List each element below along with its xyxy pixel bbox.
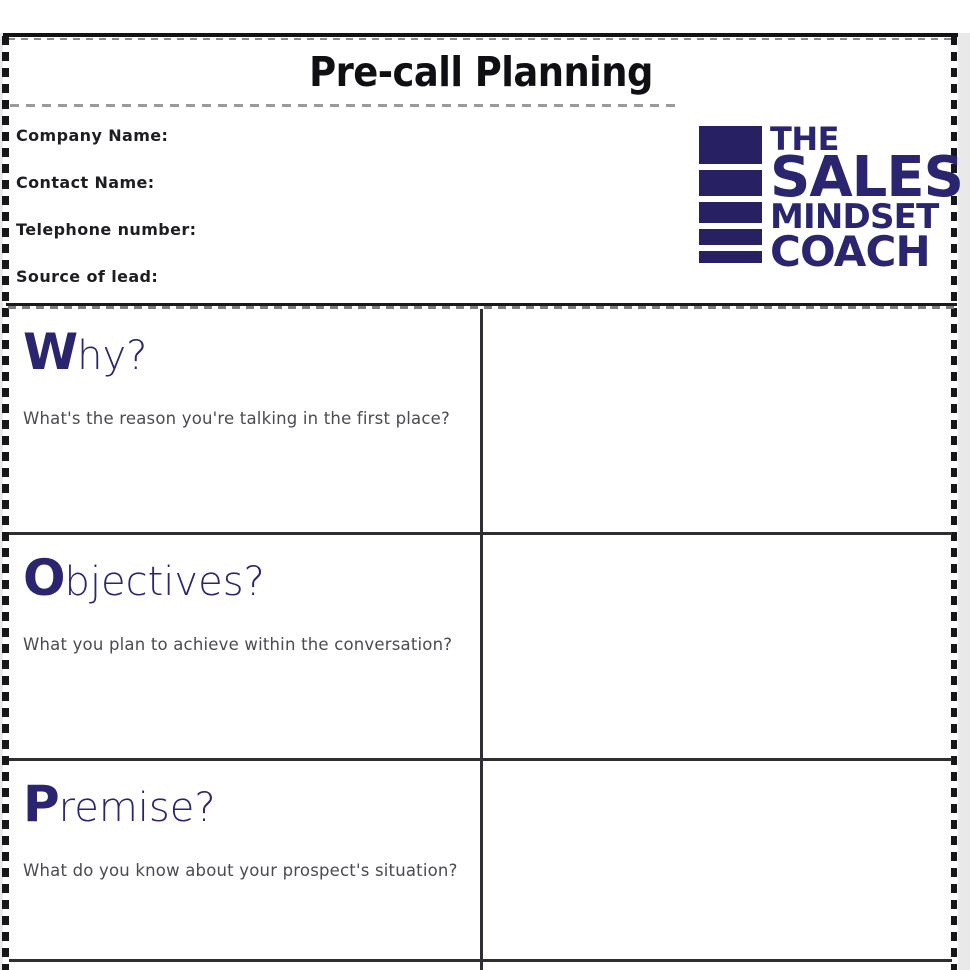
title-band: Pre-call Planning [10,40,951,104]
page-title: Pre-call Planning [309,52,653,93]
section-heading-premise: Premise? [23,779,466,829]
section-heading-why: Why? [23,327,466,377]
section-initial: W [23,323,77,381]
section-heading-objectives: Objectives? [23,553,466,603]
scanned-document: Pre-call Planning Company Name: Contact … [0,0,970,970]
field-company-name[interactable]: Company Name: [16,126,536,173]
section-heading-rest: remise? [59,785,216,831]
contact-field-list: Company Name: Contact Name: Telephone nu… [16,126,536,314]
logo-line-coach: COACH [770,232,963,271]
answer-cell-objectives[interactable] [483,535,952,758]
prompt-cell-why: Why? What's the reason you're talking in… [9,309,483,532]
section-prompt-text: What you plan to achieve within the conv… [23,629,466,661]
planning-table: Why? What's the reason you're talking in… [9,309,952,970]
answer-cell-partial[interactable] [483,962,952,970]
logo-bar [699,251,762,263]
field-label: Contact Name: [16,173,155,192]
prompt-cell-objectives: Objectives? What you plan to achieve wit… [9,535,483,758]
section-heading-rest: bjectives? [65,559,265,605]
table-row: Objectives? What you plan to achieve wit… [9,535,952,761]
table-row: Premise? What do you know about your pro… [9,761,952,962]
field-telephone-number[interactable]: Telephone number: [16,220,536,267]
section-prompt-text: What's the reason you're talking in the … [23,403,466,435]
logo-bar [699,126,762,164]
prompt-cell-premise: Premise? What do you know about your pro… [9,761,483,959]
section-initial: O [23,549,65,607]
logo-bar [699,229,762,245]
section-initial: P [23,775,59,833]
field-label: Company Name: [16,126,168,145]
sheet-top-rule [3,33,958,37]
title-separator [10,104,682,107]
logo-bars-icon [699,120,762,269]
prompt-cell-partial [9,962,483,970]
section-prompt-text: What do you know about your prospect's s… [23,855,466,887]
table-row: Why? What's the reason you're talking in… [9,309,952,535]
field-label: Source of lead: [16,267,158,286]
answer-cell-why[interactable] [483,309,952,532]
sales-mindset-coach-logo: THE SALES MINDSET COACH [699,120,957,295]
field-contact-name[interactable]: Contact Name: [16,173,536,220]
logo-bar [699,170,762,196]
header-block: Company Name: Contact Name: Telephone nu… [10,110,951,303]
field-label: Telephone number: [16,220,196,239]
table-row-partial [9,962,952,970]
logo-bar [699,202,762,223]
logo-wordmark: THE SALES MINDSET COACH [770,120,963,271]
section-heading-rest: hy? [77,333,147,379]
answer-cell-premise[interactable] [483,761,952,959]
sheet-left-edge [2,36,9,970]
